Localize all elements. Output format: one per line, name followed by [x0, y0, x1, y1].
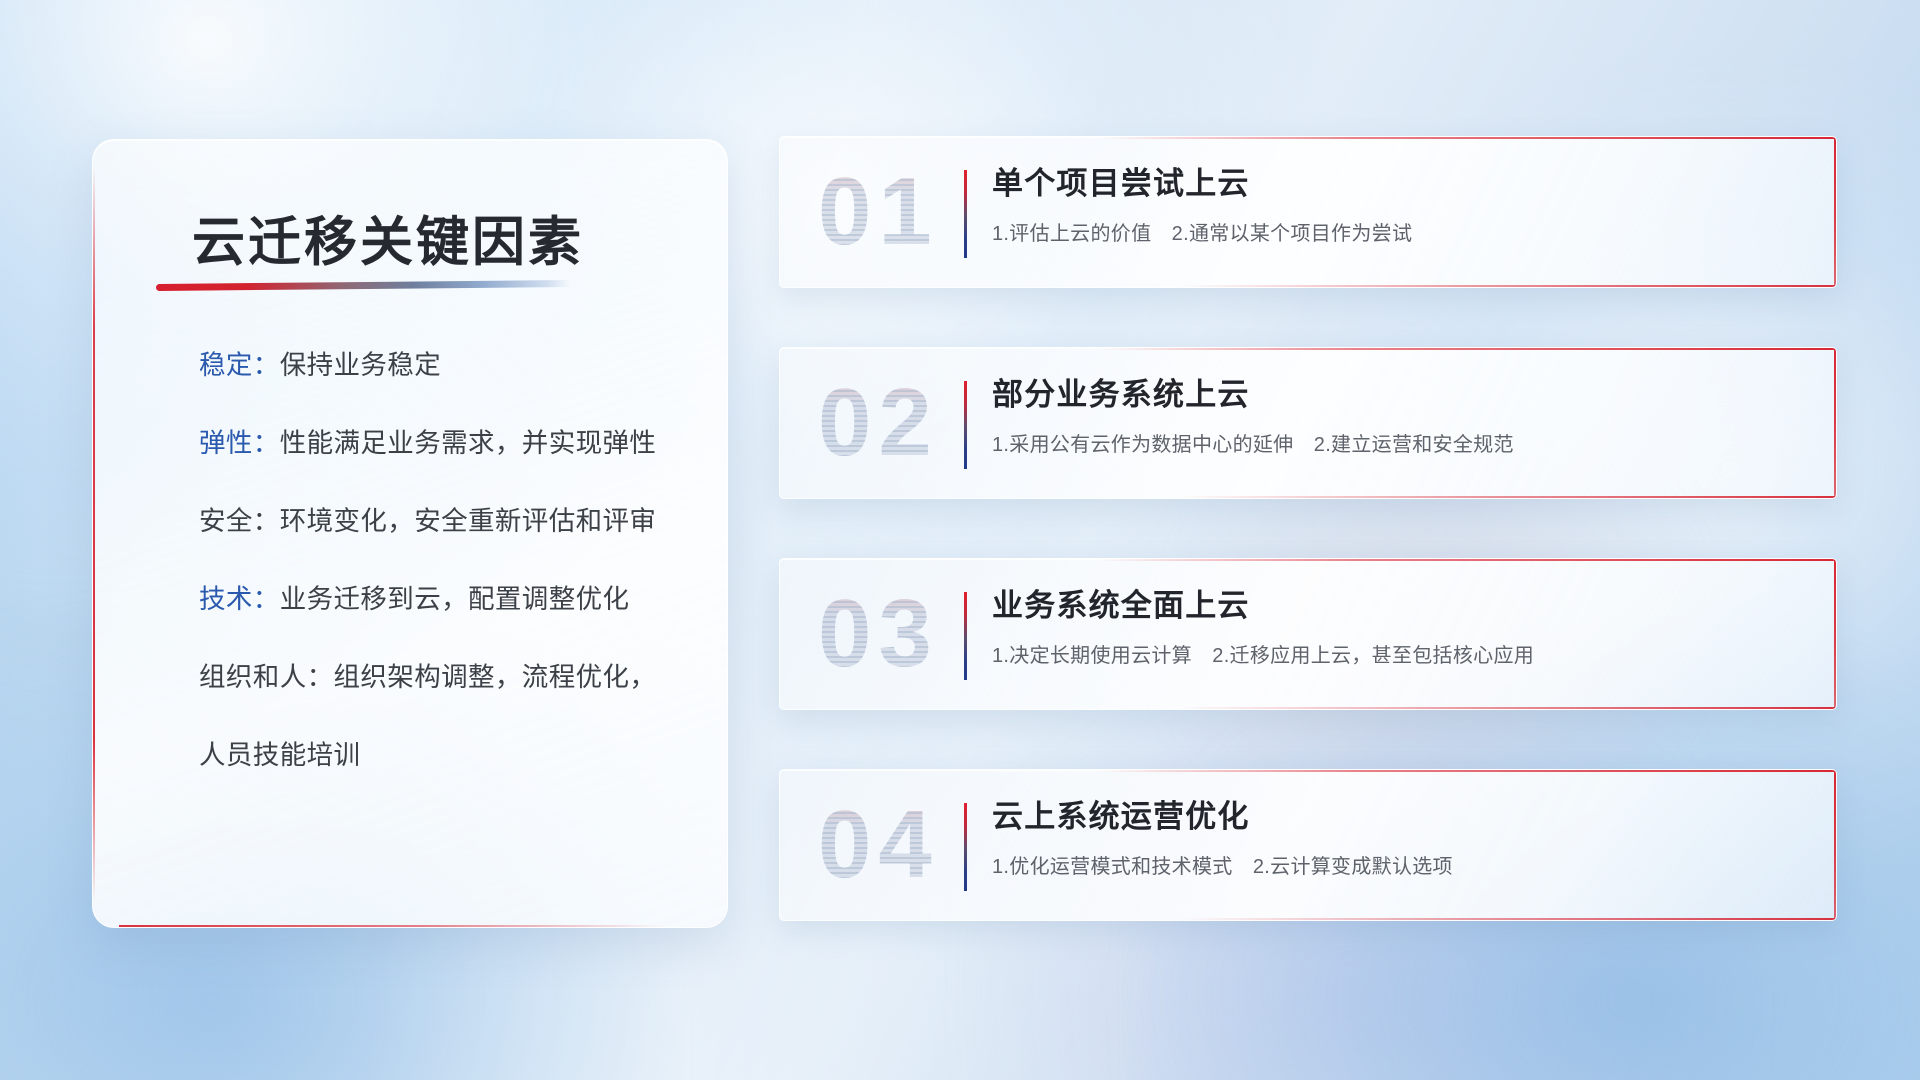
- card-top-accent-line: [1097, 348, 1836, 350]
- factor-row: 组织和人：组织架构调整，流程优化，: [199, 664, 656, 691]
- step-title: 部分业务系统上云: [992, 378, 1808, 412]
- factor-text: 环境变化，安全重新评估和评审: [280, 506, 657, 536]
- key-factors-card: 云迁移关键因素 稳定：保持业务稳定弹性：性能满足业务需求，并实现弹性安全：环境变…: [92, 139, 728, 928]
- factor-text: 人员技能培训: [199, 740, 360, 770]
- card-left-accent-line: [93, 166, 95, 901]
- step-number-watermark: 01: [818, 164, 939, 260]
- step-divider-bar: [964, 592, 967, 680]
- card-bottom-accent-line: [1181, 496, 1836, 498]
- factor-row: 技术：业务迁移到云，配置调整优化: [199, 586, 629, 613]
- step-divider-bar: [964, 170, 967, 258]
- card-bottom-accent-line: [1181, 707, 1836, 709]
- step-card[interactable]: 02部分业务系统上云1.采用公有云作为数据中心的延伸 2.建立运营和安全规范: [779, 347, 1837, 499]
- step-number-watermark: 03: [818, 586, 939, 682]
- card-right-accent-line: [1834, 137, 1836, 287]
- card-top-accent-line: [1097, 770, 1836, 772]
- step-divider-bar: [964, 803, 967, 891]
- card-bottom-accent-line: [1181, 918, 1836, 920]
- card-bottom-accent-line: [119, 925, 667, 927]
- page-title: 云迁移关键因素: [192, 200, 584, 276]
- factor-row: 安全：环境变化，安全重新评估和评审: [199, 508, 656, 535]
- factor-text: 组织架构调整，流程优化，: [334, 662, 657, 692]
- step-description: 1.决定长期使用云计算 2.迁移应用上云，甚至包括核心应用: [992, 644, 1808, 668]
- factor-label: 安全：: [199, 506, 280, 536]
- step-divider-bar: [964, 381, 967, 469]
- step-number-watermark: 04: [818, 797, 939, 893]
- migration-steps-list: 01单个项目尝试上云1.评估上云的价值 2.通常以某个项目作为尝试02部分业务系…: [779, 136, 1837, 980]
- factor-label: 技术：: [199, 584, 280, 614]
- factor-text: 保持业务稳定: [280, 350, 441, 380]
- factor-row: 稳定：保持业务稳定: [199, 352, 441, 379]
- factor-label: 稳定：: [199, 350, 280, 380]
- step-body: 部分业务系统上云1.采用公有云作为数据中心的延伸 2.建立运营和安全规范: [992, 378, 1808, 457]
- card-top-accent-line: [1097, 559, 1836, 561]
- title-underline-rule: [156, 280, 571, 291]
- step-card[interactable]: 04云上系统运营优化1.优化运营模式和技术模式 2.云计算变成默认选项: [779, 769, 1837, 921]
- step-card[interactable]: 03业务系统全面上云1.决定长期使用云计算 2.迁移应用上云，甚至包括核心应用: [779, 558, 1837, 710]
- slide-stage: 云迁移关键因素 稳定：保持业务稳定弹性：性能满足业务需求，并实现弹性安全：环境变…: [0, 0, 1920, 1080]
- step-description: 1.采用公有云作为数据中心的延伸 2.建立运营和安全规范: [992, 433, 1808, 457]
- step-number-watermark: 02: [818, 375, 939, 471]
- step-card[interactable]: 01单个项目尝试上云1.评估上云的价值 2.通常以某个项目作为尝试: [779, 136, 1837, 288]
- card-right-accent-line: [1834, 559, 1836, 709]
- factor-label: 组织和人：: [199, 662, 334, 692]
- card-bottom-accent-line: [1181, 285, 1836, 287]
- factor-text: 业务迁移到云，配置调整优化: [280, 584, 630, 614]
- card-right-accent-line: [1834, 348, 1836, 498]
- step-title: 云上系统运营优化: [992, 800, 1808, 834]
- factor-row: 人员技能培训: [199, 742, 360, 769]
- card-right-accent-line: [1834, 770, 1836, 920]
- factor-text: 性能满足业务需求，并实现弹性: [280, 428, 657, 458]
- step-body: 云上系统运营优化1.优化运营模式和技术模式 2.云计算变成默认选项: [992, 800, 1808, 879]
- card-top-accent-line: [1097, 137, 1836, 139]
- step-title: 业务系统全面上云: [992, 589, 1808, 623]
- factor-label: 弹性：: [199, 428, 280, 458]
- factor-row: 弹性：性能满足业务需求，并实现弹性: [199, 430, 656, 457]
- step-description: 1.评估上云的价值 2.通常以某个项目作为尝试: [992, 222, 1808, 246]
- step-description: 1.优化运营模式和技术模式 2.云计算变成默认选项: [992, 855, 1808, 879]
- step-body: 单个项目尝试上云1.评估上云的价值 2.通常以某个项目作为尝试: [992, 167, 1808, 246]
- step-title: 单个项目尝试上云: [992, 167, 1808, 201]
- step-body: 业务系统全面上云1.决定长期使用云计算 2.迁移应用上云，甚至包括核心应用: [992, 589, 1808, 668]
